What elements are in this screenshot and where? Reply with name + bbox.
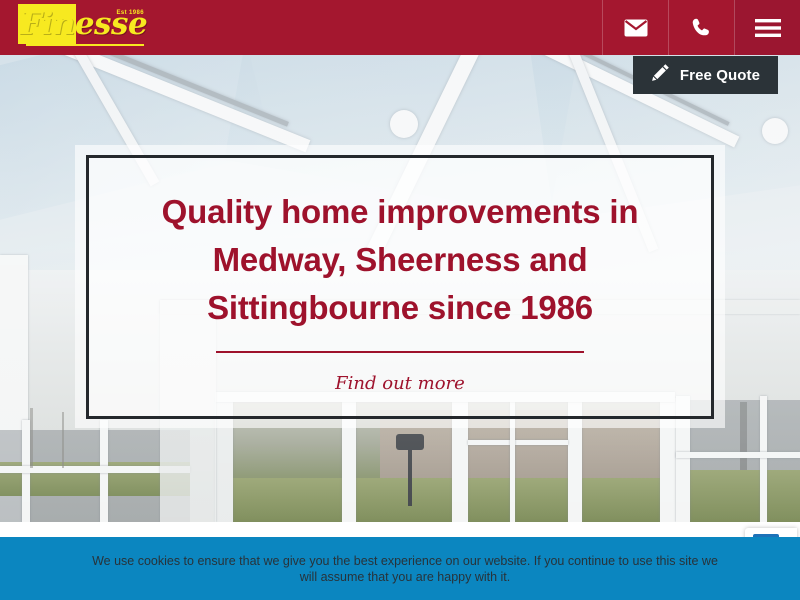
photo-roof-hub-2	[762, 118, 788, 144]
hamburger-menu-icon	[755, 18, 781, 38]
header-menu-button[interactable]	[734, 0, 800, 55]
photo-right-grass	[676, 470, 800, 522]
photo-right-bar-h	[676, 452, 800, 458]
site-header: Finesse Est 1986	[0, 0, 800, 55]
site-logo[interactable]: Finesse Est 1986	[18, 4, 146, 49]
photo-left-tree-2	[62, 412, 64, 468]
free-quote-label: Free Quote	[680, 67, 760, 84]
photo-door-glazing-bar-1	[468, 440, 568, 445]
page-root: Finesse Est 1986	[0, 0, 800, 600]
find-out-more-link[interactable]: Find out more	[335, 373, 465, 394]
photo-left-tree	[30, 408, 33, 468]
hero-headline: Quality home improvements in Medway, She…	[130, 158, 670, 332]
cookie-consent-banner: We use cookies to ensure that we give yo…	[0, 537, 800, 600]
email-icon	[624, 19, 648, 37]
hero-panel-inner: Quality home improvements in Medway, She…	[86, 155, 714, 419]
free-quote-button[interactable]: Free Quote	[633, 56, 778, 94]
hero-divider	[216, 351, 584, 353]
photo-garden-grass	[215, 478, 675, 522]
photo-roof-hub	[390, 110, 418, 138]
logo-established-text: Est 1986	[116, 10, 144, 16]
header-email-button[interactable]	[602, 0, 668, 55]
hero-panel: Quality home improvements in Medway, She…	[75, 145, 725, 428]
header-phone-button[interactable]	[668, 0, 734, 55]
photo-right-bar-v	[760, 396, 767, 522]
logo-underline	[26, 44, 144, 46]
photo-garden-lamp-post	[408, 448, 412, 506]
cookie-message: We use cookies to ensure that we give yo…	[74, 553, 726, 585]
header-icon-group	[602, 0, 800, 55]
phone-icon	[691, 17, 713, 39]
pencil-icon	[651, 63, 670, 87]
photo-garden-lamp-head	[396, 434, 424, 450]
